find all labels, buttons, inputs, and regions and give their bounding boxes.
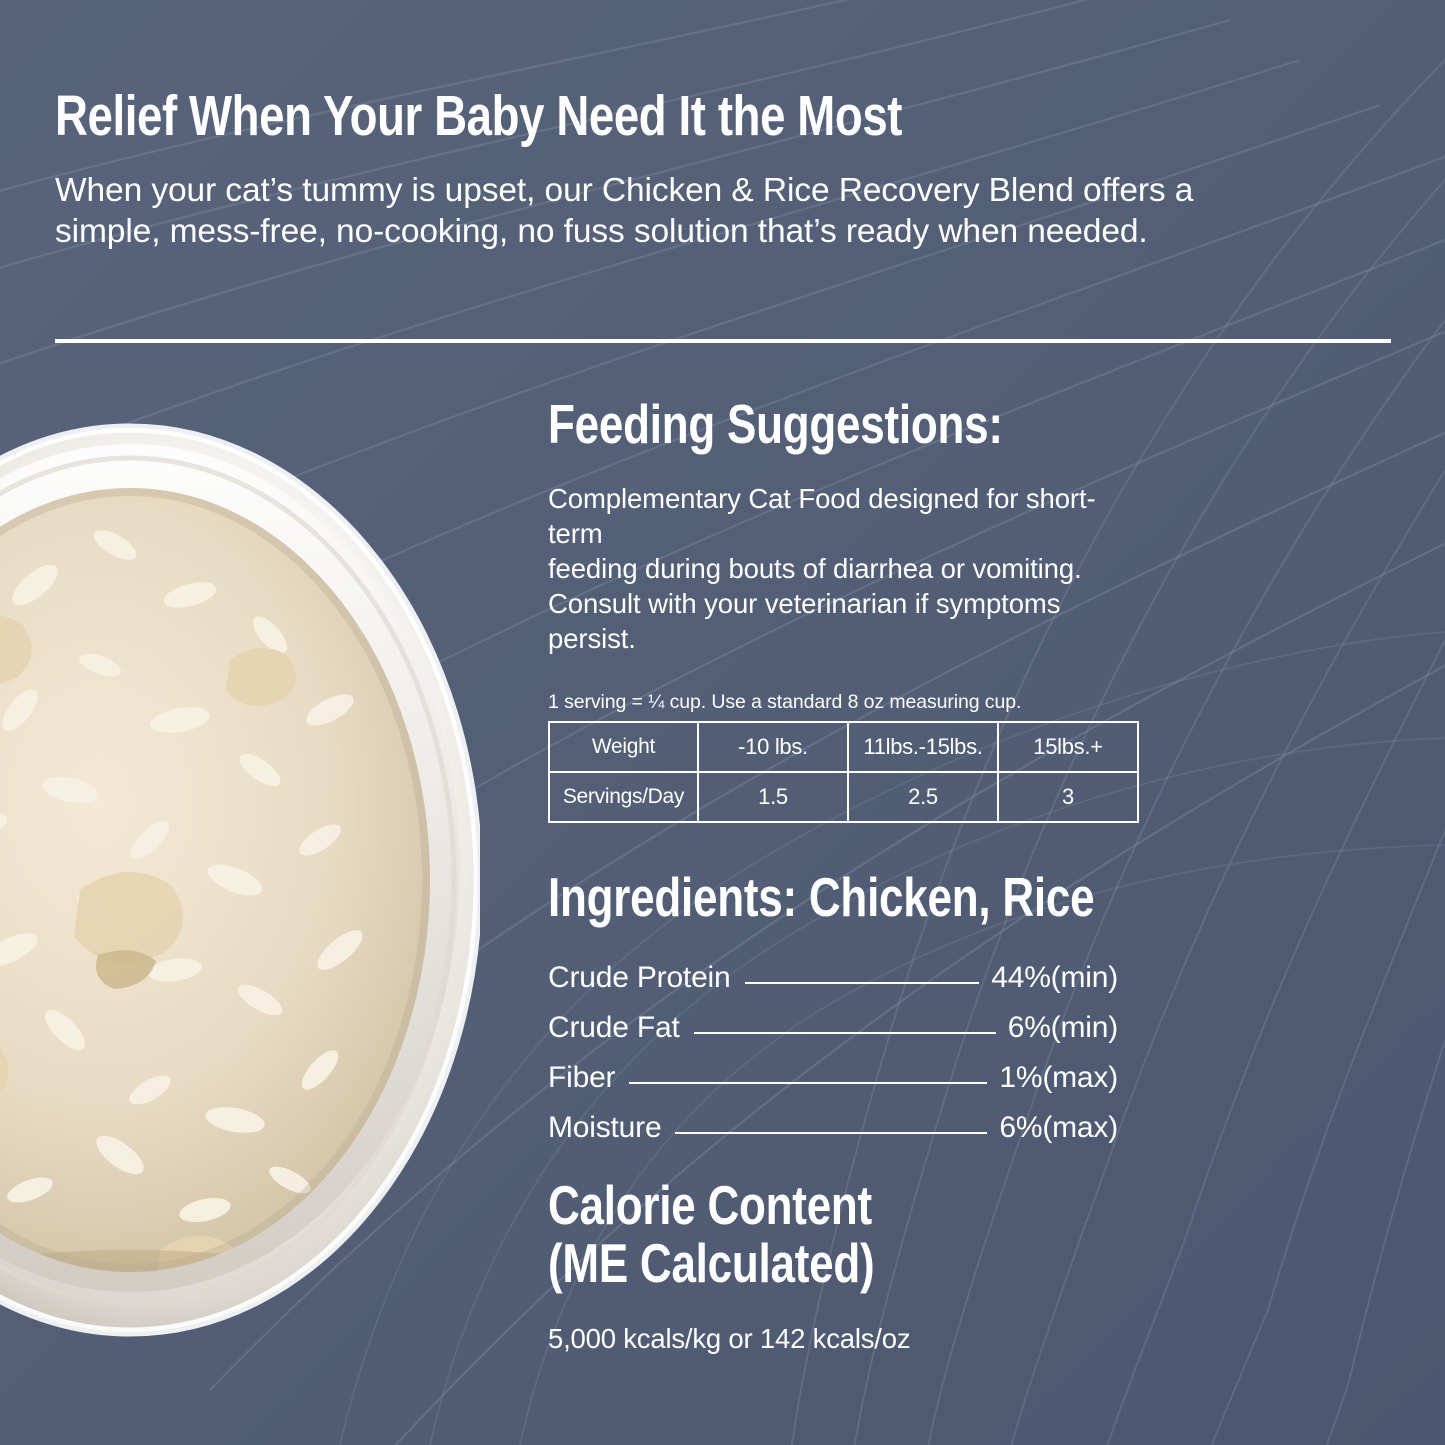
analysis-row: Crude Fat 6%(min) <box>548 1013 1118 1043</box>
table-cell: 3 <box>998 772 1138 822</box>
feeding-chart-table: Weight -10 lbs. 11lbs.-15lbs. 15lbs.+ Se… <box>548 721 1139 823</box>
feeding-body-line-3: Consult with your veterinarian if sympto… <box>548 588 1060 654</box>
feeding-body-line-1: Complementary Cat Food designed for shor… <box>548 483 1096 549</box>
product-infographic: Relief When Your Baby Need It the Most W… <box>0 0 1445 1445</box>
analysis-value: 44%(min) <box>991 963 1118 993</box>
calorie-content-value: 5,000 kcals/kg or 142 kcals/oz <box>548 1323 1128 1355</box>
feeding-suggestions-body: Complementary Cat Food designed for shor… <box>548 482 1128 657</box>
guaranteed-analysis-list: Crude Protein 44%(min) Crude Fat 6%(min)… <box>548 963 1118 1143</box>
analysis-value: 6%(min) <box>1008 1013 1118 1043</box>
leader-line <box>745 982 980 984</box>
feeding-suggestions-title: Feeding Suggestions: <box>548 396 1012 452</box>
analysis-label: Fiber <box>548 1063 615 1093</box>
analysis-row: Crude Protein 44%(min) <box>548 963 1118 993</box>
table-cell: 2.5 <box>848 772 998 822</box>
analysis-label: Moisture <box>548 1113 661 1143</box>
table-row: Weight -10 lbs. 11lbs.-15lbs. 15lbs.+ <box>549 722 1138 772</box>
feeding-body-line-2: feeding during bouts of diarrhea or vomi… <box>548 553 1082 584</box>
header-block: Relief When Your Baby Need It the Most W… <box>55 88 1395 252</box>
table-cell: 15lbs.+ <box>998 722 1138 772</box>
leader-line <box>694 1032 996 1034</box>
analysis-label: Crude Protein <box>548 963 731 993</box>
analysis-value: 1%(max) <box>999 1063 1118 1093</box>
analysis-row: Fiber 1%(max) <box>548 1063 1118 1093</box>
page-title: Relief When Your Baby Need It the Most <box>55 88 1127 145</box>
analysis-row: Moisture 6%(max) <box>548 1113 1118 1143</box>
analysis-value: 6%(max) <box>999 1113 1118 1143</box>
table-row: Servings/Day 1.5 2.5 3 <box>549 772 1138 822</box>
page-subtitle-line-1: When your cat’s tummy is upset, our Chic… <box>55 172 1193 209</box>
chicken-rice-bowl-photo <box>0 410 480 1380</box>
table-row-header: Servings/Day <box>549 772 698 822</box>
leader-line <box>675 1132 987 1134</box>
table-row-header: Weight <box>549 722 698 772</box>
horizontal-divider <box>55 339 1391 343</box>
calorie-content-title: Calorie Content (ME Calculated) <box>548 1177 1128 1291</box>
table-cell: 11lbs.-15lbs. <box>848 722 998 772</box>
calorie-title-line-1: Calorie Content <box>548 1177 1012 1233</box>
info-content-column: Feeding Suggestions: Complementary Cat F… <box>548 396 1128 1355</box>
table-cell: -10 lbs. <box>698 722 848 772</box>
analysis-label: Crude Fat <box>548 1013 680 1043</box>
leader-line <box>629 1082 987 1084</box>
serving-size-note: 1 serving = ¼ cup. Use a standard 8 oz m… <box>548 691 1128 714</box>
calorie-title-line-2: (ME Calculated) <box>548 1235 1012 1291</box>
table-cell: 1.5 <box>698 772 848 822</box>
ingredients-title: Ingredients: Chicken, Rice <box>548 869 1012 925</box>
page-subtitle: When your cat’s tummy is upset, our Chic… <box>55 171 1395 252</box>
page-subtitle-line-2: simple, mess-free, no-cooking, no fuss s… <box>55 213 1148 250</box>
